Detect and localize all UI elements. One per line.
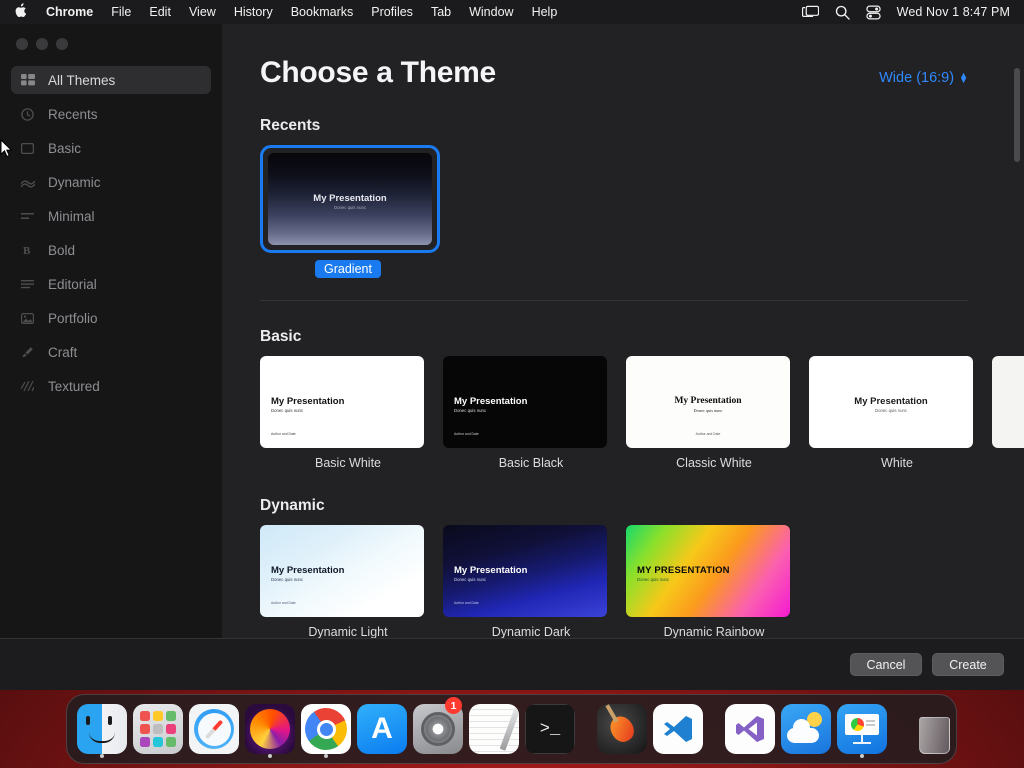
grid-icon — [20, 73, 35, 88]
vscode-icon — [653, 704, 703, 754]
sidebar-item-label: Recents — [48, 107, 98, 122]
chrome-icon — [301, 704, 351, 754]
sidebar-item-bold[interactable]: BBold — [11, 236, 211, 264]
menu-bar-items: ChromeFileEditViewHistoryBookmarksProfil… — [37, 5, 566, 19]
sidebar-item-label: Minimal — [48, 209, 95, 224]
theme-thumbnail: My PresentationDonec quis nuncAuthor and… — [260, 525, 424, 617]
menu-profiles[interactable]: Profiles — [362, 5, 422, 19]
dock-item-firefox[interactable] — [245, 698, 295, 760]
content-header: Choose a Theme Wide (16:9) ▲▼ — [260, 24, 1024, 90]
svg-text:B: B — [23, 245, 31, 256]
keynote-icon — [837, 704, 887, 754]
sidebar-item-label: Textured — [48, 379, 100, 394]
finder-icon — [77, 704, 127, 754]
trash-icon — [909, 704, 959, 754]
menu-file[interactable]: File — [102, 5, 140, 19]
theme-thumbnail-frame: MY PRESENTATIONDonec quis nunc — [626, 525, 791, 617]
square-icon — [20, 141, 35, 156]
dock-item-terminal[interactable]: >_ — [525, 698, 575, 760]
slide-subtitle: Donec quis nunc — [271, 577, 303, 582]
theme-sections: RecentsMy PresentationDonec quis nuncGra… — [260, 117, 1024, 638]
theme-card[interactable] — [992, 356, 1024, 470]
app-store-icon: A — [357, 704, 407, 754]
slide-preview: My PresentationDonec quis nuncAuthor and… — [260, 356, 424, 448]
theme-card[interactable]: My PresentationDonec quis nuncWhite — [809, 356, 974, 470]
sidebar-item-textured[interactable]: Textured — [11, 372, 211, 400]
theme-card[interactable]: My PresentationDonec quis nuncAuthor and… — [626, 356, 791, 470]
running-indicator — [860, 754, 864, 758]
visual-studio-icon — [725, 704, 775, 754]
slide-preview: My PresentationDonec quis nuncAuthor and… — [443, 356, 607, 448]
garageband-icon — [597, 704, 647, 754]
slide-preview: My PresentationDonec quis nuncAuthor and… — [626, 356, 790, 448]
slide-preview: My PresentationDonec quis nunc — [809, 356, 973, 448]
spotlight-search-icon[interactable] — [835, 5, 850, 20]
theme-thumbnail-frame: My PresentationDonec quis nuncAuthor and… — [443, 356, 608, 448]
aspect-ratio-label: Wide (16:9) — [879, 70, 954, 86]
traffic-lights — [0, 24, 222, 50]
notes-icon — [469, 704, 519, 754]
section-title: Basic — [260, 328, 1024, 346]
clock-icon — [20, 107, 35, 122]
theme-thumbnail-frame: My PresentationDonec quis nuncAuthor and… — [443, 525, 608, 617]
aspect-ratio-button[interactable]: Wide (16:9) ▲▼ — [879, 70, 968, 86]
theme-scroll-area[interactable]: Choose a Theme Wide (16:9) ▲▼ RecentsMy … — [222, 24, 1024, 638]
menu-history[interactable]: History — [225, 5, 282, 19]
theme-caption-wrap: Dynamic Light — [260, 625, 436, 638]
chevron-up-down-icon: ▲▼ — [959, 73, 968, 82]
close-button[interactable] — [16, 38, 28, 50]
section-title: Recents — [260, 117, 1024, 135]
theme-thumbnail: My PresentationDonec quis nuncAuthor and… — [626, 356, 790, 448]
slide-author: Author and Date — [271, 601, 296, 605]
theme-thumbnail-frame: My PresentationDonec quis nuncAuthor and… — [260, 356, 425, 448]
window-footer: Cancel Create — [0, 638, 1024, 690]
theme-caption-wrap: Dynamic Rainbow — [626, 625, 802, 638]
screen-mirroring-icon[interactable] — [802, 5, 819, 19]
sidebar-item-list: All ThemesRecentsBasicDynamicMinimalBBol… — [0, 66, 222, 406]
slide-author: Author and Date — [626, 432, 790, 436]
slide-title: My Presentation — [626, 396, 790, 406]
slide-author: Author and Date — [454, 432, 479, 436]
firefox-icon — [245, 704, 295, 754]
running-indicator — [324, 754, 328, 758]
sidebar-item-label: Bold — [48, 243, 75, 258]
sidebar-item-all-themes[interactable]: All Themes — [11, 66, 211, 94]
running-indicator — [100, 754, 104, 758]
dock: A1>_ — [66, 694, 957, 764]
sidebar-item-label: Basic — [48, 141, 81, 156]
slide-author: Author and Date — [454, 601, 479, 605]
theme-name-label: Classic White — [626, 456, 802, 470]
theme-name-label: Dynamic Dark — [443, 625, 619, 638]
menu-tab[interactable]: Tab — [422, 5, 460, 19]
menu-bookmarks[interactable]: Bookmarks — [282, 5, 363, 19]
dock-item-launchpad[interactable] — [133, 698, 183, 760]
brush-icon — [20, 345, 35, 360]
theme-caption-wrap: Classic White — [626, 456, 802, 470]
sidebar-item-dynamic[interactable]: Dynamic — [11, 168, 211, 196]
photo-icon — [20, 311, 35, 326]
sidebar: All ThemesRecentsBasicDynamicMinimalBBol… — [0, 24, 222, 638]
minimize-button[interactable] — [36, 38, 48, 50]
theme-name-label: Gradient — [315, 260, 381, 278]
dock-item-visual-studio[interactable] — [725, 698, 775, 760]
slide-subtitle: Donec quis nunc — [271, 408, 303, 413]
running-indicator — [268, 754, 272, 758]
slide-preview: My PresentationDonec quis nunc — [268, 153, 432, 245]
theme-caption-wrap: Basic White — [260, 456, 436, 470]
sidebar-item-label: Dynamic — [48, 175, 101, 190]
dock-item-keynote[interactable] — [837, 698, 887, 760]
dock-item-app-store[interactable]: A — [357, 698, 407, 760]
menu-view[interactable]: View — [180, 5, 225, 19]
dock-item-chrome[interactable] — [301, 698, 351, 760]
launchpad-icon — [133, 704, 183, 754]
slide-title: MY PRESENTATION — [637, 565, 730, 576]
theme-caption-wrap: Basic Black — [443, 456, 619, 470]
sidebar-item-basic[interactable]: Basic — [11, 134, 211, 162]
sidebar-item-editorial[interactable]: Editorial — [11, 270, 211, 298]
theme-thumbnail: My PresentationDonec quis nuncAuthor and… — [443, 525, 607, 617]
dock-item-notes[interactable] — [469, 698, 519, 760]
theme-caption-wrap: White — [809, 456, 985, 470]
safari-icon — [189, 704, 239, 754]
theme-card[interactable]: My PresentationDonec quis nuncAuthor and… — [443, 525, 608, 638]
menu-help[interactable]: Help — [523, 5, 567, 19]
menu-bar-status-area: Wed Nov 1 8:47 PM — [802, 5, 1016, 20]
theme-card[interactable]: MY PRESENTATIONDonec quis nuncDynamic Ra… — [626, 525, 791, 638]
terminal-icon: >_ — [525, 704, 575, 754]
texture-icon — [20, 379, 35, 394]
theme-thumbnail-frame: My PresentationDonec quis nunc — [260, 145, 440, 253]
apple-logo-icon[interactable] — [8, 3, 37, 20]
menu-window[interactable]: Window — [460, 5, 522, 19]
theme-thumbnail-frame — [992, 356, 1024, 448]
theme-thumbnail: My PresentationDonec quis nuncAuthor and… — [260, 356, 424, 448]
theme-caption-wrap: Dynamic Dark — [443, 625, 619, 638]
slide-title: My Presentation — [454, 565, 527, 576]
slide-title: My Presentation — [809, 396, 973, 407]
section-separator — [260, 300, 968, 301]
slide-preview — [992, 356, 1024, 448]
dock-item-trash[interactable] — [909, 698, 959, 760]
theme-browser: Choose a Theme Wide (16:9) ▲▼ RecentsMy … — [222, 24, 1024, 638]
sidebar-item-label: Portfolio — [48, 311, 98, 326]
sidebar-item-minimal[interactable]: Minimal — [11, 202, 211, 230]
slide-preview: MY PRESENTATIONDonec quis nunc — [626, 525, 790, 617]
theme-thumbnail: My PresentationDonec quis nunc — [809, 356, 973, 448]
menu-chrome[interactable]: Chrome — [37, 5, 102, 19]
bold-icon: B — [20, 243, 35, 258]
line-icon — [20, 209, 35, 224]
cancel-button[interactable]: Cancel — [850, 653, 922, 676]
theme-name-label: Basic White — [260, 456, 436, 470]
sidebar-item-recents[interactable]: Recents — [11, 100, 211, 128]
theme-card[interactable]: My PresentationDonec quis nuncAuthor and… — [260, 525, 425, 638]
mouse-cursor — [0, 139, 13, 163]
theme-chooser-window: All ThemesRecentsBasicDynamicMinimalBBol… — [0, 24, 1024, 690]
theme-name-label: Dynamic Light — [260, 625, 436, 638]
sidebar-item-craft[interactable]: Craft — [11, 338, 211, 366]
control-center-icon[interactable] — [866, 5, 881, 20]
window-body: All ThemesRecentsBasicDynamicMinimalBBol… — [0, 24, 1024, 638]
dock-item-weather[interactable] — [781, 698, 831, 760]
slide-subtitle: Donec quis nunc — [268, 205, 432, 210]
theme-name-label: Dynamic Rainbow — [626, 625, 802, 638]
theme-thumbnail-frame: My PresentationDonec quis nuncAuthor and… — [626, 356, 791, 448]
slide-title: My Presentation — [271, 396, 344, 407]
dock-item-vscode[interactable] — [653, 698, 703, 760]
theme-row: My PresentationDonec quis nuncGradient — [260, 145, 1024, 278]
slide-subtitle: Donec quis nunc — [809, 408, 973, 413]
slide-preview: My PresentationDonec quis nuncAuthor and… — [443, 525, 607, 617]
theme-thumbnail-frame: My PresentationDonec quis nuncAuthor and… — [260, 525, 425, 617]
dock-item-garageband[interactable] — [597, 698, 647, 760]
theme-row: My PresentationDonec quis nuncAuthor and… — [260, 525, 1024, 638]
slide-title: My Presentation — [271, 565, 344, 576]
theme-name-label: White — [809, 456, 985, 470]
slide-subtitle: Donec quis nunc — [626, 408, 790, 413]
theme-card[interactable]: My PresentationDonec quis nuncAuthor and… — [260, 356, 425, 470]
dock-item-finder[interactable] — [77, 698, 127, 760]
dock-item-safari[interactable] — [189, 698, 239, 760]
create-button[interactable]: Create — [932, 653, 1004, 676]
slide-subtitle: Donec quis nunc — [637, 577, 669, 582]
menu-edit[interactable]: Edit — [140, 5, 180, 19]
slide-author: Author and Date — [271, 432, 296, 436]
notification-badge: 1 — [445, 697, 462, 714]
sidebar-item-label: Craft — [48, 345, 77, 360]
slide-subtitle: Donec quis nunc — [454, 408, 486, 413]
theme-thumbnail: My PresentationDonec quis nuncAuthor and… — [443, 356, 607, 448]
theme-caption-wrap: Gradient — [260, 253, 436, 278]
theme-name-label: Basic Black — [443, 456, 619, 470]
sidebar-item-label: Editorial — [48, 277, 97, 292]
theme-thumbnail-frame: My PresentationDonec quis nunc — [809, 356, 974, 448]
slide-title: My Presentation — [268, 193, 432, 204]
sidebar-item-label: All Themes — [48, 73, 115, 88]
theme-card[interactable]: My PresentationDonec quis nuncGradient — [260, 145, 425, 278]
weather-icon — [781, 704, 831, 754]
theme-thumbnail — [992, 356, 1024, 448]
dock-item-system-settings[interactable]: 1 — [413, 698, 463, 760]
zoom-button[interactable] — [56, 38, 68, 50]
theme-thumbnail: MY PRESENTATIONDonec quis nunc — [626, 525, 790, 617]
theme-card[interactable]: My PresentationDonec quis nuncAuthor and… — [443, 356, 608, 470]
menu-bar: ChromeFileEditViewHistoryBookmarksProfil… — [0, 0, 1024, 24]
menu-bar-clock[interactable]: Wed Nov 1 8:47 PM — [897, 5, 1010, 19]
section-title: Dynamic — [260, 497, 1024, 515]
slide-preview: My PresentationDonec quis nuncAuthor and… — [260, 525, 424, 617]
page-title: Choose a Theme — [260, 56, 496, 90]
slide-title: My Presentation — [454, 396, 527, 407]
theme-thumbnail: My PresentationDonec quis nunc — [268, 153, 432, 245]
text-icon — [20, 277, 35, 292]
theme-row: My PresentationDonec quis nuncAuthor and… — [260, 356, 1024, 470]
slide-subtitle: Donec quis nunc — [454, 577, 486, 582]
wave-icon — [20, 175, 35, 190]
sidebar-item-portfolio[interactable]: Portfolio — [11, 304, 211, 332]
vertical-scrollbar[interactable] — [1014, 68, 1020, 162]
